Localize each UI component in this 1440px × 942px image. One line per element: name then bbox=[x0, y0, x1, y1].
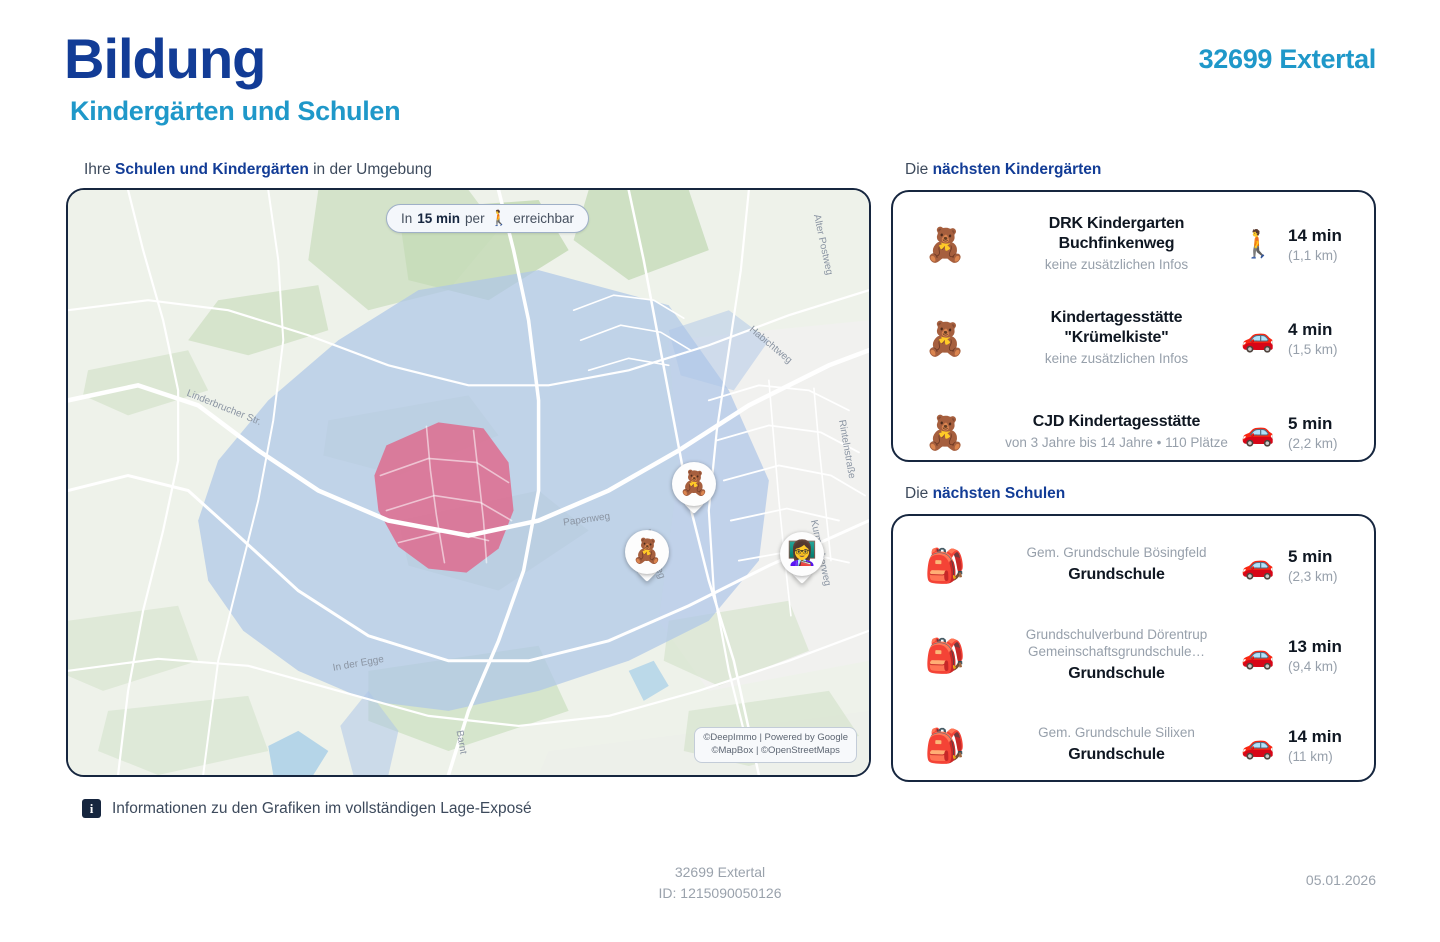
car-icon: 🚗 bbox=[1236, 419, 1280, 446]
teddy-bear-icon: 🧸 bbox=[893, 322, 997, 355]
map-pin-school[interactable]: 👩‍🏫 bbox=[780, 532, 824, 584]
school-row[interactable]: 🎒Gem. Grundschule SilixenGrundschule🚗14 … bbox=[893, 704, 1374, 786]
badge-duration: 15 min bbox=[417, 211, 460, 226]
kindergarten-row-subtitle: keine zusätzlichen Infos bbox=[1001, 351, 1232, 368]
page-root: Bildung Kindergärten und Schulen 32699 E… bbox=[0, 0, 1440, 942]
school-row-text: Grundschulverbund Dörentrup Gemeinschaft… bbox=[997, 627, 1236, 683]
backpack-icon: 🎒 bbox=[893, 639, 997, 672]
car-icon: 🚗 bbox=[1236, 732, 1280, 759]
car-icon: 🚗 bbox=[1236, 642, 1280, 669]
kindergarten-row-distance: (1,1 km) bbox=[1288, 248, 1342, 263]
teddy-bear-icon: 🧸 bbox=[893, 228, 997, 261]
school-row-name: Grundschule bbox=[1001, 664, 1232, 684]
kindergarten-row-name: CJD Kindertagesstätte bbox=[1001, 412, 1232, 432]
school-row-pretitle: Gem. Grundschule Silixen bbox=[1001, 725, 1232, 742]
kg-caption-bold: nächsten Kindergärten bbox=[933, 161, 1102, 178]
car-icon: 🚗 bbox=[1236, 552, 1280, 579]
badge-post: erreichbar bbox=[513, 211, 574, 226]
walking-person-icon: 🚶 bbox=[1236, 231, 1280, 258]
info-footnote: i Informationen zu den Grafiken im volls… bbox=[82, 799, 532, 818]
school-row-pretitle: Gem. Grundschule Bösingfeld bbox=[1001, 545, 1232, 562]
map-caption: Ihre Schulen und Kindergärten in der Umg… bbox=[84, 161, 432, 179]
teddy-bear-icon: 🧸 bbox=[672, 462, 716, 506]
map-pin-teddy-bear[interactable]: 🧸 bbox=[672, 462, 716, 514]
backpack-icon: 🎒 bbox=[893, 549, 997, 582]
kindergarten-row[interactable]: 🧸CJD Kindertagesstättevon 3 Jahre bis 14… bbox=[893, 390, 1374, 474]
map-caption-bold: Schulen und Kindergärten bbox=[115, 161, 309, 178]
school-row-pretitle: Grundschulverbund Dörentrup Gemeinschaft… bbox=[1001, 627, 1232, 661]
school-row-distance: (9,4 km) bbox=[1288, 659, 1342, 674]
kindergarten-card: 🧸DRK Kindergarten Buchfinkenwegkeine zus… bbox=[891, 190, 1376, 462]
teddy-bear-icon: 🧸 bbox=[625, 530, 669, 574]
school-row-name: Grundschule bbox=[1001, 565, 1232, 585]
badge-pre: In bbox=[401, 211, 412, 226]
school-row-travel: 🚗13 min(9,4 km) bbox=[1236, 637, 1374, 674]
school-row-text: Gem. Grundschule BösingfeldGrundschule bbox=[997, 545, 1236, 584]
kindergarten-row[interactable]: 🧸DRK Kindergarten Buchfinkenwegkeine zus… bbox=[893, 202, 1374, 286]
kindergarten-row-time: 5 min bbox=[1288, 414, 1338, 434]
school-row-time: 13 min bbox=[1288, 637, 1342, 657]
map-canvas[interactable]: Linderbrucher Str. Alter Postweg Habicht… bbox=[68, 190, 869, 775]
kindergarten-row-subtitle: von 3 Jahre bis 14 Jahre • 110 Plätze bbox=[1001, 435, 1232, 452]
school-row-travel: 🚗14 min(11 km) bbox=[1236, 727, 1374, 764]
car-icon: 🚗 bbox=[1236, 325, 1280, 352]
school-row[interactable]: 🎒Gem. Grundschule BösingfeldGrundschule🚗… bbox=[893, 524, 1374, 606]
school-row-travel: 🚗5 min(2,3 km) bbox=[1236, 547, 1374, 584]
school-row-distance: (11 km) bbox=[1288, 749, 1342, 764]
kindergarten-row-travel: 🚶14 min(1,1 km) bbox=[1236, 226, 1374, 263]
map-caption-pre: Ihre bbox=[84, 161, 115, 178]
kindergarten-row[interactable]: 🧸Kindertagesstätte "Krümelkiste"keine zu… bbox=[893, 296, 1374, 380]
footer-id: ID: 1215090050126 bbox=[0, 883, 1440, 904]
map-attribution: ©DeepImmo | Powered by Google ©MapBox | … bbox=[694, 727, 857, 763]
footer-location: 32699 Extertal bbox=[0, 862, 1440, 883]
backpack-icon: 🎒 bbox=[893, 729, 997, 762]
kindergarten-row-subtitle: keine zusätzlichen Infos bbox=[1001, 257, 1232, 274]
isochrone-badge: In 15 min per 🚶 erreichbar bbox=[386, 204, 589, 233]
school-caption-bold: nächsten Schulen bbox=[933, 485, 1066, 502]
info-footnote-text: Informationen zu den Grafiken im vollstä… bbox=[112, 800, 532, 818]
kindergarten-row-text: Kindertagesstätte "Krümelkiste"keine zus… bbox=[997, 308, 1236, 368]
school-row-time: 14 min bbox=[1288, 727, 1342, 747]
kg-caption-pre: Die bbox=[905, 161, 933, 178]
school-row-text: Gem. Grundschule SilixenGrundschule bbox=[997, 725, 1236, 764]
school-row-time: 5 min bbox=[1288, 547, 1338, 567]
school-row-time-wrap: 13 min(9,4 km) bbox=[1288, 637, 1342, 674]
kindergarten-row-name: DRK Kindergarten Buchfinkenweg bbox=[1001, 214, 1232, 253]
school-row-name: Grundschule bbox=[1001, 745, 1232, 765]
kindergarten-row-distance: (2,2 km) bbox=[1288, 436, 1338, 451]
badge-mid: per bbox=[465, 211, 485, 226]
kindergarten-row-text: DRK Kindergarten Buchfinkenwegkeine zusä… bbox=[997, 214, 1236, 274]
school-row-distance: (2,3 km) bbox=[1288, 569, 1338, 584]
school-icon: 👩‍🏫 bbox=[780, 532, 824, 576]
footer-date: 05.01.2026 bbox=[1306, 872, 1376, 888]
school-row-time-wrap: 14 min(11 km) bbox=[1288, 727, 1342, 764]
kindergarten-row-time: 4 min bbox=[1288, 320, 1338, 340]
school-caption: Die nächsten Schulen bbox=[905, 485, 1065, 503]
kindergarten-row-text: CJD Kindertagesstättevon 3 Jahre bis 14 … bbox=[997, 412, 1236, 452]
map-panel[interactable]: Linderbrucher Str. Alter Postweg Habicht… bbox=[66, 188, 871, 777]
location-label: 32699 Extertal bbox=[1199, 44, 1376, 75]
page-title: Bildung bbox=[64, 26, 265, 91]
kindergarten-row-travel: 🚗5 min(2,2 km) bbox=[1236, 414, 1374, 451]
kindergarten-row-time-wrap: 5 min(2,2 km) bbox=[1288, 414, 1338, 451]
kindergarten-caption: Die nächsten Kindergärten bbox=[905, 161, 1101, 179]
kindergarten-row-travel: 🚗4 min(1,5 km) bbox=[1236, 320, 1374, 357]
school-row[interactable]: 🎒Grundschulverbund Dörentrup Gemeinschaf… bbox=[893, 614, 1374, 696]
footer-center: 32699 Extertal ID: 1215090050126 bbox=[0, 862, 1440, 904]
kindergarten-row-time-wrap: 4 min(1,5 km) bbox=[1288, 320, 1338, 357]
kindergarten-row-time-wrap: 14 min(1,1 km) bbox=[1288, 226, 1342, 263]
school-caption-pre: Die bbox=[905, 485, 933, 502]
map-caption-post: in der Umgebung bbox=[309, 161, 432, 178]
map-attribution-line1: ©DeepImmo | Powered by Google bbox=[703, 732, 848, 745]
page-subtitle: Kindergärten und Schulen bbox=[70, 96, 400, 127]
teddy-bear-icon: 🧸 bbox=[893, 416, 997, 449]
kindergarten-row-time: 14 min bbox=[1288, 226, 1342, 246]
walking-person-icon: 🚶 bbox=[490, 211, 509, 226]
map-attribution-line2: ©MapBox | ©OpenStreetMaps bbox=[703, 745, 848, 758]
info-icon: i bbox=[82, 799, 101, 818]
school-card: 🎒Gem. Grundschule BösingfeldGrundschule🚗… bbox=[891, 514, 1376, 782]
kindergarten-row-name: Kindertagesstätte "Krümelkiste" bbox=[1001, 308, 1232, 347]
map-pin-teddy-bear[interactable]: 🧸 bbox=[625, 530, 669, 582]
school-row-time-wrap: 5 min(2,3 km) bbox=[1288, 547, 1338, 584]
kindergarten-row-distance: (1,5 km) bbox=[1288, 342, 1338, 357]
